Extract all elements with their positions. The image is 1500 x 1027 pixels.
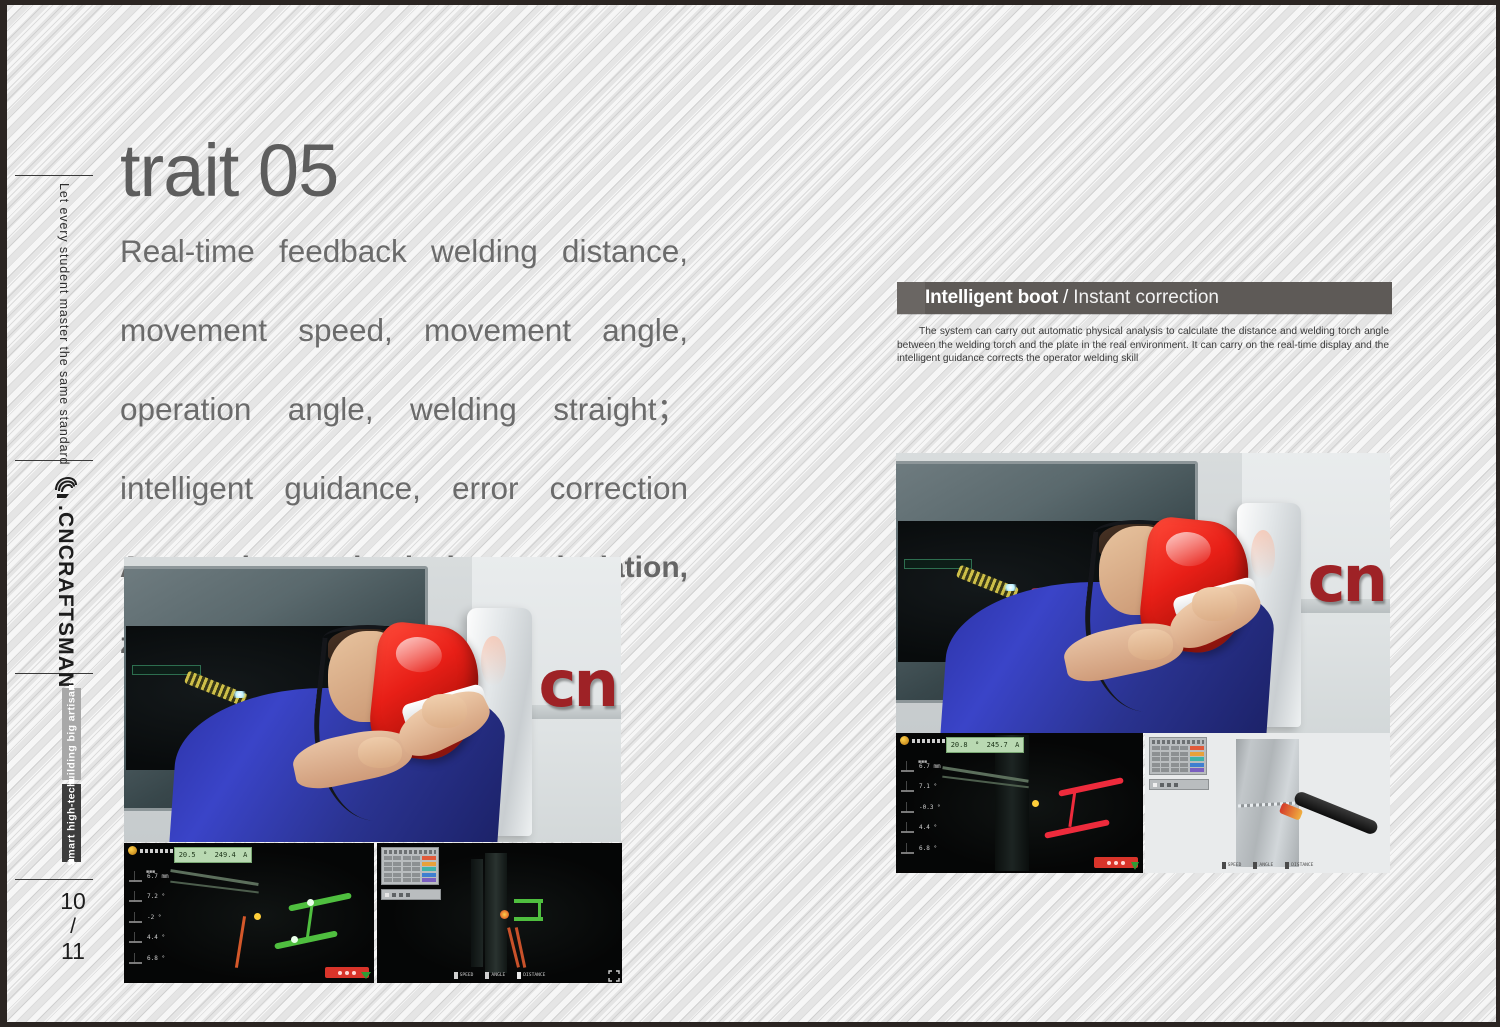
sim-toolbar[interactable] <box>1149 779 1209 790</box>
arc-spark <box>1002 584 1019 591</box>
sim-metric-row: 6.7 mm <box>129 869 169 883</box>
sim-metric-row: 6.7 mm <box>901 759 941 773</box>
status-item: DISTANCE <box>517 972 545 979</box>
page-slash: / <box>53 914 93 939</box>
status-item: ANGLE <box>485 972 505 979</box>
sim-readout: 20.8 ° 245.7 A <box>946 737 1024 753</box>
sim-logo <box>900 736 952 745</box>
status-item: SPEED <box>1222 862 1242 869</box>
palette-cell[interactable] <box>1180 768 1188 772</box>
palette-cell[interactable] <box>403 862 411 866</box>
brand-name: .CNCRAFTSMAN <box>53 505 77 689</box>
metric-icon <box>901 843 914 854</box>
logo-dot-icon <box>128 846 137 855</box>
arc-point <box>500 910 509 919</box>
plate-silhouette <box>995 735 1029 871</box>
left-sidebar: Let every student master the same standa… <box>7 5 107 1022</box>
weld-bead-trace <box>956 564 1019 599</box>
brochure-page: Let every student master the same standa… <box>0 0 1500 1027</box>
page-current: 10 <box>53 889 93 914</box>
sim-metric-row: 6.8 ° <box>901 841 941 855</box>
header-subtitle: Instant correction <box>1073 287 1219 309</box>
status-label: ANGLE <box>491 973 505 978</box>
page-total: 11 <box>53 939 93 964</box>
welding-sim-palette-dark[interactable]: SPEED ANGLE DISTANCE <box>377 843 622 983</box>
palette-cell[interactable] <box>384 878 392 882</box>
welding-sim-green[interactable]: 20.5 ° 249.4 A ■■■ 6.7 mm 7.2 ° -2 ° <box>124 843 374 983</box>
sim-metric-row: 4.4 ° <box>129 931 169 945</box>
badge-notch-bottom <box>69 859 74 864</box>
action-dot-icon <box>345 971 349 975</box>
sim-readout: 20.5 ° 249.4 A <box>174 847 252 863</box>
section-description: The system can carry out automatic physi… <box>897 325 1389 366</box>
palette-button-grid[interactable] <box>384 856 420 882</box>
swatch-orange[interactable] <box>1190 752 1204 756</box>
palette-cell[interactable] <box>403 867 411 871</box>
palette-cell[interactable] <box>384 856 392 860</box>
palette-cell[interactable] <box>1180 752 1188 756</box>
sim-color-palette[interactable] <box>1149 737 1207 775</box>
sidebar-divider-top <box>15 175 93 176</box>
sidebar-divider-bottom <box>15 879 93 880</box>
palette-cell[interactable] <box>393 862 401 866</box>
palette-swatches[interactable] <box>1190 746 1204 772</box>
welding-torch-dark <box>1293 790 1380 836</box>
angle-guide-connector <box>538 899 541 918</box>
metric-value: 6.8 ° <box>147 955 165 962</box>
swatch-teal[interactable] <box>1190 757 1204 761</box>
badge-smart-high-tech: Smart high-tech <box>62 784 81 862</box>
status-icon <box>485 972 489 979</box>
palette-cell[interactable] <box>412 867 420 871</box>
toolbar-button-icon[interactable] <box>1167 783 1171 787</box>
metric-icon <box>901 781 914 792</box>
status-label: SPEED <box>1228 863 1242 868</box>
angle-guide-connector <box>1068 789 1076 827</box>
weld-bead-trace <box>184 671 248 707</box>
palette-cell[interactable] <box>1152 757 1160 761</box>
metric-icon <box>129 953 142 964</box>
page-number: 10 / 11 <box>53 889 93 964</box>
lead-line-1: Real-time feedback welding distance, <box>120 232 688 311</box>
palette-cell[interactable] <box>1161 757 1169 761</box>
swatch-purple[interactable] <box>1190 768 1204 772</box>
arc-point <box>1032 800 1039 807</box>
metric-icon <box>129 871 142 882</box>
palette-cell[interactable] <box>384 873 392 877</box>
expand-arrow-icon[interactable] <box>360 969 372 981</box>
palette-cell[interactable] <box>384 862 392 866</box>
angle-guide-bottom <box>1044 819 1109 839</box>
badge-notch-top <box>69 685 74 690</box>
palette-cell[interactable] <box>393 856 401 860</box>
readout-current-unit: A <box>1015 741 1019 749</box>
status-item: SPEED <box>454 972 474 979</box>
swatch-red[interactable] <box>422 856 436 860</box>
guide-node-bottom <box>291 936 298 943</box>
readout-angle: 20.5 <box>179 851 196 859</box>
status-label: DISTANCE <box>1291 863 1313 868</box>
status-icon <box>1222 862 1226 869</box>
metric-value: -2 ° <box>147 914 161 921</box>
angle-guide-top <box>1058 777 1123 797</box>
metric-icon <box>901 761 914 772</box>
toolbar-button-icon[interactable] <box>385 893 389 897</box>
sim-metric-list: 6.7 mm 7.1 ° -0.3 ° 4.4 ° 6.8 ° <box>901 759 941 862</box>
palette-cell[interactable] <box>1171 757 1179 761</box>
lead-line-4: intelligent guidance, error correction <box>120 469 688 548</box>
palette-cell[interactable] <box>1152 752 1160 756</box>
readout-angle: 20.8 <box>951 741 968 749</box>
toolbar-button-icon[interactable] <box>1160 783 1164 787</box>
palette-cell[interactable] <box>403 878 411 882</box>
palette-cell[interactable] <box>1171 752 1179 756</box>
metric-icon <box>129 912 142 923</box>
sidebar-divider-mid <box>15 460 93 461</box>
fullscreen-icon[interactable] <box>608 969 620 981</box>
page-title: trait 05 <box>120 132 720 210</box>
swatch-red[interactable] <box>1190 746 1204 750</box>
welder-training-photo-right: cn <box>896 453 1390 733</box>
palette-rows <box>1152 746 1204 772</box>
palette-titlebar <box>1152 740 1204 744</box>
welder-hand-upper <box>1192 587 1236 621</box>
palette-rows <box>384 856 436 882</box>
swatch-orange[interactable] <box>422 862 436 866</box>
metric-value: 6.7 mm <box>147 873 169 880</box>
toolbar-button-icon[interactable] <box>392 893 396 897</box>
metric-value: 4.4 ° <box>919 824 937 831</box>
metric-value: 7.2 ° <box>147 893 165 900</box>
toolbar-button-icon[interactable] <box>406 893 410 897</box>
readout-angle-unit: ° <box>203 851 207 859</box>
sim-metric-list: 6.7 mm 7.2 ° -2 ° 4.4 ° 6.8 ° <box>129 869 169 972</box>
action-dot-icon <box>1121 861 1125 865</box>
metric-value: 6.8 ° <box>919 845 937 852</box>
arc-point <box>254 913 261 920</box>
palette-cell[interactable] <box>393 878 401 882</box>
palette-button-grid[interactable] <box>1152 746 1188 772</box>
sim-metric-row: -2 ° <box>129 910 169 924</box>
palette-cell[interactable] <box>412 856 420 860</box>
palette-cell[interactable] <box>1171 768 1179 772</box>
welding-sim-red[interactable]: 20.8 ° 245.7 A ■■■ 6.7 mm 7.1 ° -0.3 ° <box>896 733 1143 873</box>
palette-cell[interactable] <box>1161 746 1169 750</box>
sim-metric-row: 4.4 ° <box>901 821 941 835</box>
readout-current: 245.7 <box>987 741 1008 749</box>
toolbar-button-icon[interactable] <box>1174 783 1178 787</box>
action-dot-icon <box>1114 861 1118 865</box>
sidebar-tagline: Let every student master the same standa… <box>57 183 71 465</box>
welder-hand-lower <box>358 737 403 768</box>
swatch-teal[interactable] <box>422 867 436 871</box>
badge-building-big-artisans: Building big artisans <box>62 688 81 780</box>
action-dot-icon <box>352 971 356 975</box>
metric-icon <box>901 802 914 813</box>
palette-cell[interactable] <box>1180 746 1188 750</box>
action-dot-icon <box>1107 861 1111 865</box>
palette-titlebar <box>384 850 436 854</box>
sim-status-bar: SPEED ANGLE DISTANCE <box>377 969 622 981</box>
palette-cell[interactable] <box>1171 763 1179 767</box>
lead-line-2: movement speed, movement angle, <box>120 311 688 390</box>
header-bar-accent <box>897 282 925 314</box>
metric-value: 4.4 ° <box>147 934 165 941</box>
swatch-purple[interactable] <box>422 878 436 882</box>
palette-cell[interactable] <box>393 873 401 877</box>
sim-color-palette[interactable] <box>381 847 439 885</box>
lead-paragraph: Real-time feedback welding distance, mov… <box>120 232 688 548</box>
toolbar-button-icon[interactable] <box>399 893 403 897</box>
palette-cell[interactable] <box>412 878 420 882</box>
status-label: DISTANCE <box>523 973 545 978</box>
readout-angle-unit: ° <box>975 741 979 749</box>
header-title: Intelligent boot <box>925 287 1058 309</box>
metric-icon <box>129 891 142 902</box>
metric-icon <box>901 822 914 833</box>
sim-metric-row: 7.2 ° <box>129 890 169 904</box>
palette-swatches[interactable] <box>422 856 436 882</box>
palette-cell[interactable] <box>412 873 420 877</box>
spiral-logo-icon <box>53 475 79 501</box>
status-icon <box>454 972 458 979</box>
palette-cell[interactable] <box>1152 746 1160 750</box>
palette-cell[interactable] <box>412 862 420 866</box>
readout-current: 249.4 <box>215 851 236 859</box>
palette-cell[interactable] <box>1171 746 1179 750</box>
palette-cell[interactable] <box>1152 763 1160 767</box>
status-icon <box>1253 862 1257 869</box>
welder-hand-upper <box>422 694 467 728</box>
wall-cn-logo: cn <box>1308 543 1386 617</box>
status-item: DISTANCE <box>1285 862 1313 869</box>
sim-metric-row: 7.1 ° <box>901 780 941 794</box>
expand-arrow-icon[interactable] <box>1129 859 1141 871</box>
palette-cell[interactable] <box>1180 757 1188 761</box>
header-separator: / <box>1063 287 1068 309</box>
sim-metric-row: -0.3 ° <box>901 800 941 814</box>
sim-toolbar[interactable] <box>381 889 441 900</box>
palette-cell[interactable] <box>1161 763 1169 767</box>
metric-value: -0.3 ° <box>919 804 941 811</box>
palette-cell[interactable] <box>1152 768 1160 772</box>
sim-metric-row: 6.8 ° <box>129 951 169 965</box>
toolbar-button-icon[interactable] <box>1153 783 1157 787</box>
action-dot-icon <box>338 971 342 975</box>
metric-icon <box>129 932 142 943</box>
torch-axis-line <box>235 916 246 968</box>
sim-status-bar: SPEED ANGLE DISTANCE <box>1145 859 1390 871</box>
welding-plate-light[interactable]: SPEED ANGLE DISTANCE <box>1145 733 1390 873</box>
swatch-blue[interactable] <box>422 873 436 877</box>
logo-dot-icon <box>900 736 909 745</box>
status-label: ANGLE <box>1259 863 1273 868</box>
sim-logo <box>128 846 180 855</box>
welder-training-photo-left: cn <box>124 557 621 842</box>
status-icon <box>517 972 521 979</box>
metric-value: 7.1 ° <box>919 783 937 790</box>
status-icon <box>1285 862 1289 869</box>
welder-hand-lower <box>1128 629 1172 660</box>
palette-cell[interactable] <box>393 867 401 871</box>
arc-spark <box>231 691 248 698</box>
plate-silhouette-2 <box>471 859 483 968</box>
status-item: ANGLE <box>1253 862 1273 869</box>
metric-value: 6.7 mm <box>919 763 941 770</box>
station-glow <box>1251 530 1275 579</box>
palette-cell[interactable] <box>384 867 392 871</box>
station-glow <box>481 636 506 686</box>
status-label: SPEED <box>460 973 474 978</box>
lead-line-3: operation angle, welding straight； <box>120 390 688 469</box>
angle-guide-top <box>288 893 352 912</box>
readout-current-unit: A <box>243 851 247 859</box>
wall-cn-logo: cn <box>539 648 617 722</box>
palette-cell[interactable] <box>1180 763 1188 767</box>
palette-cell[interactable] <box>403 856 411 860</box>
palette-cell[interactable] <box>1161 768 1169 772</box>
swatch-blue[interactable] <box>1190 763 1204 767</box>
palette-cell[interactable] <box>1161 752 1169 756</box>
section-header-bar: Intelligent boot / Instant correction <box>897 282 1392 314</box>
palette-cell[interactable] <box>403 873 411 877</box>
